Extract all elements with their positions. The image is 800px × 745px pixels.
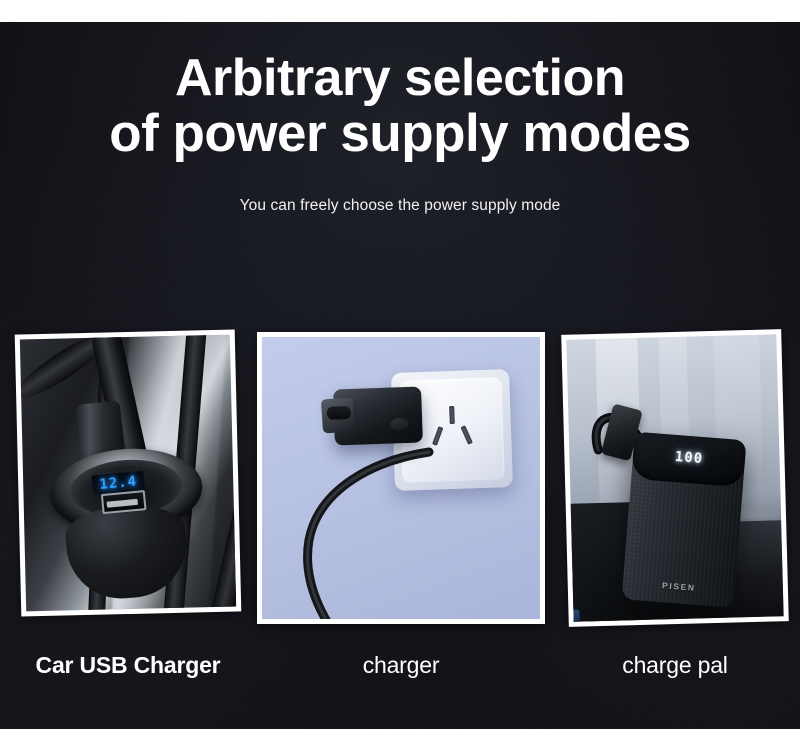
dark-stage: Arbitrary selection of power supply mode… (0, 22, 800, 729)
power-bank-body: 100 PISEN (621, 431, 746, 607)
subheadline: You can freely choose the power supply m… (0, 197, 800, 215)
voltage-reading: 12.4 (99, 474, 138, 491)
caption-charge-pal: charge pal (565, 652, 785, 679)
headline: Arbitrary selection of power supply mode… (0, 50, 800, 162)
photo-panel-car-usb-charger: 12.4 (15, 329, 242, 616)
power-bank-photo: 100 PISEN (566, 334, 783, 621)
wall-charger-photo (262, 337, 540, 619)
wall-charger-cable (279, 430, 459, 619)
outlet-pin-right (460, 425, 472, 444)
brand-logo: PISEN (661, 580, 695, 593)
bottom-bleed-strip (0, 729, 800, 745)
product-banner: Arbitrary selection of power supply mode… (0, 0, 800, 745)
background-blue-accent (571, 609, 580, 621)
wall-charger-usb-port (327, 405, 351, 419)
usb-port-icon (101, 490, 147, 514)
wall-charger-emboss (390, 417, 408, 430)
battery-level-display: 100 (674, 449, 703, 465)
outlet-pin-top (449, 405, 455, 423)
photo-panel-wall-charger (257, 332, 545, 624)
headline-line-2: of power supply modes (0, 106, 800, 162)
power-bank-display-panel: 100 (631, 431, 746, 487)
headline-line-1: Arbitrary selection (0, 50, 800, 106)
caption-car-usb-charger: Car USB Charger (18, 652, 238, 679)
caption-charger: charger (257, 652, 545, 679)
top-bleed-strip (0, 0, 800, 22)
photo-panel-charge-pal: 100 PISEN (561, 329, 789, 627)
car-charger-photo: 12.4 (20, 335, 236, 612)
photo-row: 12.4 (0, 312, 800, 622)
